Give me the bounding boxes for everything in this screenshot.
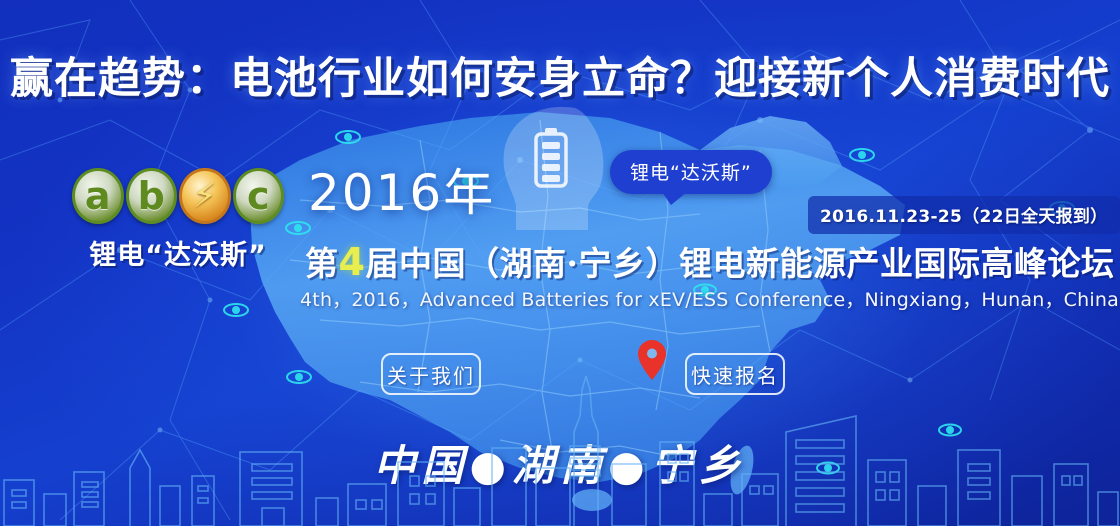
event-year: 2016年 [308,168,495,218]
event-title-suffix: 届中国（湖南·宁乡）锂电新能源产业国际高峰论坛 [365,244,1114,283]
page-title: 赢在趋势：电池行业如何安身立命？迎接新个人消费时代 [0,44,1120,106]
conference-banner: 赢在趋势：电池行业如何安身立命？迎接新个人消费时代 a b ⚡ c 锂电“达沃斯… [0,0,1120,526]
map-pin-icon [638,340,666,380]
logo-letter-a: a [72,168,124,224]
speech-bubble-nickname: 锂电“达沃斯” [610,150,772,194]
event-date-badge: 2016.11.23-25（22日全天报到） [808,196,1120,234]
event-title-prefix: 第 [305,244,339,283]
event-edition-number: 4 [339,240,366,284]
quick-registration-button[interactable]: 快速报名 [685,353,785,395]
about-us-button[interactable]: 关于我们 [381,353,481,395]
event-subtitle-english: 4th，2016，Advanced Batteries for xEV/ESS … [300,285,1119,312]
abec-logo: a b ⚡ c 锂电“达沃斯” [72,168,284,272]
logo-tagline: 锂电“达沃斯” [72,233,284,272]
event-title: 第4届中国（湖南·宁乡）锂电新能源产业国际高峰论坛 [305,242,1114,284]
location-footer: 中国●湖南●宁乡 [0,432,1120,493]
lightning-bolt-icon: ⚡ [193,179,217,213]
logo-letter-c: c [233,168,285,224]
logo-letter-e-bolt: ⚡ [179,168,231,224]
logo-mark: a b ⚡ c [72,168,284,224]
logo-letter-b: b [126,168,178,224]
